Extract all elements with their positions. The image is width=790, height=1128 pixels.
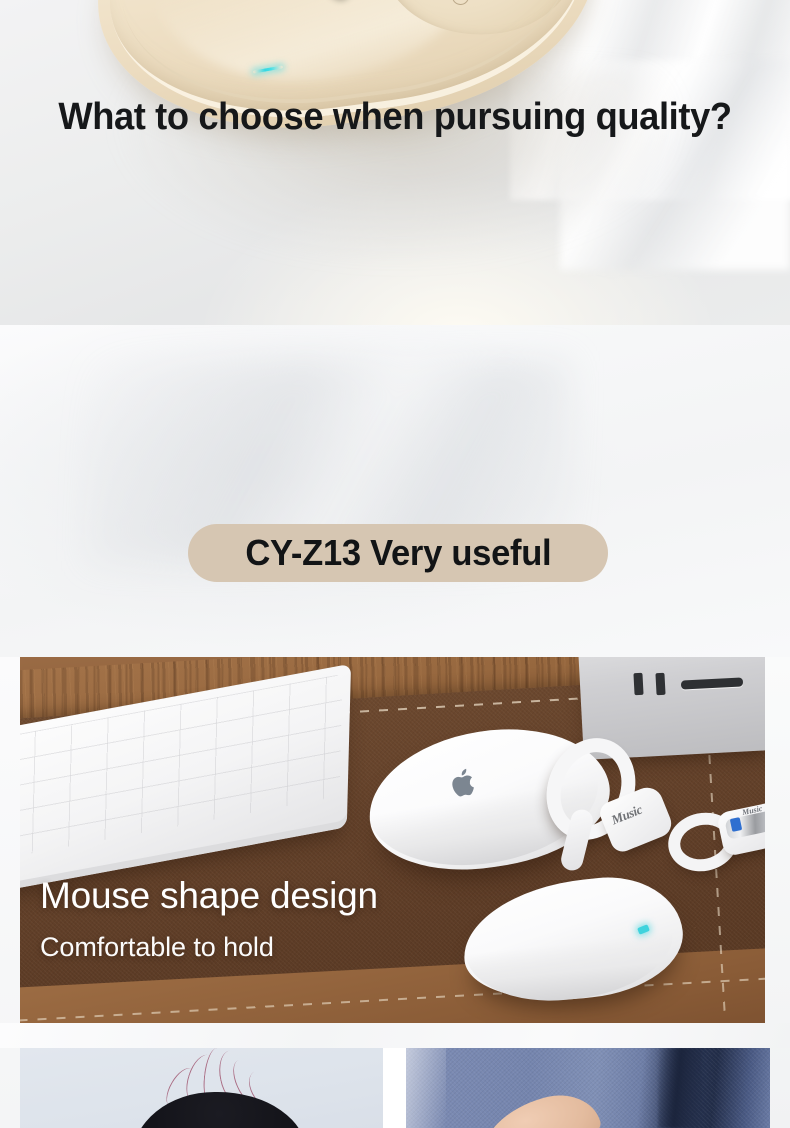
blue-fabric-panel (406, 1048, 770, 1128)
photo-caption-main: Mouse shape design (40, 875, 378, 917)
hero-charging-case-photo: R (0, 0, 790, 325)
panel-light-edge (406, 1048, 446, 1128)
shoulder-skin (474, 1085, 605, 1128)
headline-section (0, 325, 790, 657)
desk-scene-photo: Music Music Mouse shape design Comfortab… (20, 657, 765, 1023)
model-badge-label: CY-Z13 Very useful (245, 532, 551, 574)
hair-closeup-panel (20, 1048, 383, 1128)
usb-c-port-left (633, 673, 643, 695)
section-gap (0, 1023, 790, 1048)
model-badge: CY-Z13 Very useful (188, 524, 608, 582)
apple-logo-icon (448, 765, 481, 801)
product-detail-page: R What to choose when pursuing quality? … (0, 0, 790, 1128)
photo-caption-sub: Comfortable to hold (40, 932, 274, 963)
left-margin (0, 657, 20, 1128)
page-headline: What to choose when pursuing quality? (18, 96, 772, 139)
fabric-fold-shadow (658, 1048, 702, 1128)
usb-c-port-right (655, 673, 665, 695)
